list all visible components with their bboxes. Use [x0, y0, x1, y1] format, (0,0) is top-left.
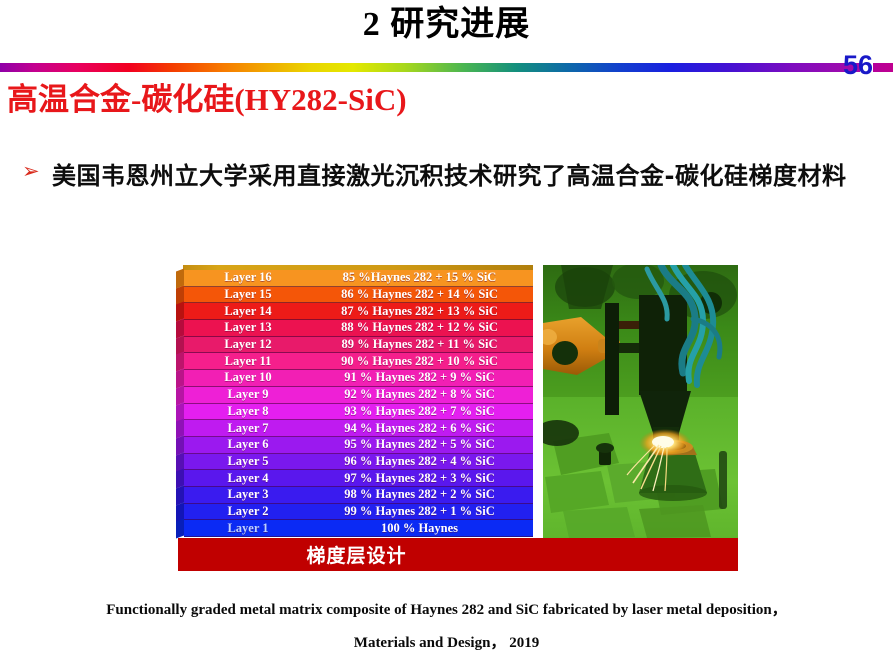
layer-label: Layer 16: [184, 270, 312, 285]
layer-label: Layer 7: [184, 421, 312, 436]
arrow-bullet-icon: ➢: [22, 161, 44, 183]
layer-label: Layer 14: [184, 304, 312, 319]
layer-composition: 88 % Haynes 282 + 12 % SiC: [312, 320, 533, 335]
bullet-item: ➢ 美国韦恩州立大学采用直接激光沉积技术研究了高温合金-碳化硅梯度材料: [22, 155, 882, 197]
layer-front-face: Layer 992 % Haynes 282 + 8 % SiC: [184, 387, 533, 404]
layer-row: Layer 1190 % Haynes 282 + 10 % SiC: [176, 353, 533, 370]
layer-label: Layer 15: [184, 287, 312, 302]
photo-graphic: [543, 265, 738, 538]
layer-label: Layer 2: [184, 504, 312, 519]
layer-label: Layer 11: [184, 354, 312, 369]
layer-row: Layer 1100 % Haynes: [176, 520, 533, 537]
layer-row: Layer 794 % Haynes 282 + 6 % SiC: [176, 420, 533, 437]
layer-composition: 90 % Haynes 282 + 10 % SiC: [312, 354, 533, 369]
layer-front-face: Layer 1487 % Haynes 282 + 13 % SiC: [184, 303, 533, 320]
layer-front-face: Layer 1100 % Haynes: [184, 520, 533, 537]
layer-label: Layer 5: [184, 454, 312, 469]
layer-composition: 99 % Haynes 282 + 1 % SiC: [312, 504, 533, 519]
layer-label: Layer 13: [184, 320, 312, 335]
layer-front-face: Layer 1388 % Haynes 282 + 12 % SiC: [184, 320, 533, 337]
layer-front-face: Layer 497 % Haynes 282 + 3 % SiC: [184, 470, 533, 487]
layer-composition: 97 % Haynes 282 + 3 % SiC: [312, 471, 533, 486]
reference-line-1: Functionally graded metal matrix composi…: [40, 594, 853, 627]
layer-label: Layer 1: [184, 521, 312, 536]
reference-citation: Functionally graded metal matrix composi…: [40, 594, 853, 660]
layer-row: Layer 1091 % Haynes 282 + 9 % SiC: [176, 370, 533, 387]
layer-row: Layer 1586 % Haynes 282 + 14 % SiC: [176, 287, 533, 304]
layer-row: Layer 1388 % Haynes 282 + 12 % SiC: [176, 320, 533, 337]
layer-label: Layer 9: [184, 387, 312, 402]
layer-front-face: Layer 299 % Haynes 282 + 1 % SiC: [184, 504, 533, 521]
rainbow-divider-tail: [873, 63, 893, 72]
page-number: 56: [843, 50, 873, 80]
graded-layer-stack-diagram: Layer 1685 %Haynes 282 + 15 % SiCLayer 1…: [176, 265, 533, 538]
layer-label: Layer 10: [184, 370, 312, 385]
reference-line-2: Materials and Design， 2019: [40, 627, 853, 660]
layer-composition: 98 % Haynes 282 + 2 % SiC: [312, 487, 533, 502]
layer-front-face: Layer 398 % Haynes 282 + 2 % SiC: [184, 487, 533, 504]
layer-composition: 86 % Haynes 282 + 14 % SiC: [312, 287, 533, 302]
layer-front-face: Layer 1586 % Haynes 282 + 14 % SiC: [184, 287, 533, 304]
layer-composition: 100 % Haynes: [312, 521, 533, 536]
layer-front-face: Layer 893 % Haynes 282 + 7 % SiC: [184, 404, 533, 421]
layer-label: Layer 6: [184, 437, 312, 452]
layer-row: Layer 893 % Haynes 282 + 7 % SiC: [176, 404, 533, 421]
layer-row: Layer 299 % Haynes 282 + 1 % SiC: [176, 504, 533, 521]
layer-composition: 91 % Haynes 282 + 9 % SiC: [312, 370, 533, 385]
layer-composition: 93 % Haynes 282 + 7 % SiC: [312, 404, 533, 419]
layer-front-face: Layer 695 % Haynes 282 + 5 % SiC: [184, 437, 533, 454]
laser-deposition-photo: [543, 265, 738, 538]
rainbow-divider: [0, 63, 860, 72]
layer-composition: 89 % Haynes 282 + 11 % SiC: [312, 337, 533, 352]
layer-label: Layer 12: [184, 337, 312, 352]
layer-label: Layer 8: [184, 404, 312, 419]
figure-caption-bar: 梯度层设计: [178, 538, 738, 571]
layer-composition: 96 % Haynes 282 + 4 % SiC: [312, 454, 533, 469]
layer-row: Layer 1685 %Haynes 282 + 15 % SiC: [176, 270, 533, 287]
figure-caption-text: 梯度层设计: [178, 541, 535, 568]
layer-row: Layer 992 % Haynes 282 + 8 % SiC: [176, 387, 533, 404]
layer-side-face: [176, 519, 184, 539]
layer-row: Layer 1289 % Haynes 282 + 11 % SiC: [176, 337, 533, 354]
layer-composition: 87 % Haynes 282 + 13 % SiC: [312, 304, 533, 319]
layer-composition: 85 %Haynes 282 + 15 % SiC: [312, 270, 533, 285]
layer-label: Layer 3: [184, 487, 312, 502]
layer-label: Layer 4: [184, 471, 312, 486]
layer-front-face: Layer 1289 % Haynes 282 + 11 % SiC: [184, 337, 533, 354]
layer-front-face: Layer 794 % Haynes 282 + 6 % SiC: [184, 420, 533, 437]
section-heading: 高温合金-碳化硅(HY282-SiC): [7, 80, 407, 120]
layer-rows: Layer 1685 %Haynes 282 + 15 % SiCLayer 1…: [176, 270, 533, 537]
layer-row: Layer 695 % Haynes 282 + 5 % SiC: [176, 437, 533, 454]
layer-front-face: Layer 1091 % Haynes 282 + 9 % SiC: [184, 370, 533, 387]
bullet-text: 美国韦恩州立大学采用直接激光沉积技术研究了高温合金-碳化硅梯度材料: [52, 155, 882, 197]
layer-composition: 95 % Haynes 282 + 5 % SiC: [312, 437, 533, 452]
layer-row: Layer 596 % Haynes 282 + 4 % SiC: [176, 454, 533, 471]
page-title: 2 研究进展: [0, 2, 893, 48]
layer-front-face: Layer 1190 % Haynes 282 + 10 % SiC: [184, 353, 533, 370]
layer-row: Layer 1487 % Haynes 282 + 13 % SiC: [176, 303, 533, 320]
layer-front-face: Layer 1685 %Haynes 282 + 15 % SiC: [184, 270, 533, 287]
layer-front-face: Layer 596 % Haynes 282 + 4 % SiC: [184, 454, 533, 471]
layer-composition: 94 % Haynes 282 + 6 % SiC: [312, 421, 533, 436]
layer-row: Layer 398 % Haynes 282 + 2 % SiC: [176, 487, 533, 504]
figure-block: Layer 1685 %Haynes 282 + 15 % SiCLayer 1…: [176, 265, 738, 571]
layer-row: Layer 497 % Haynes 282 + 3 % SiC: [176, 470, 533, 487]
layer-composition: 92 % Haynes 282 + 8 % SiC: [312, 387, 533, 402]
